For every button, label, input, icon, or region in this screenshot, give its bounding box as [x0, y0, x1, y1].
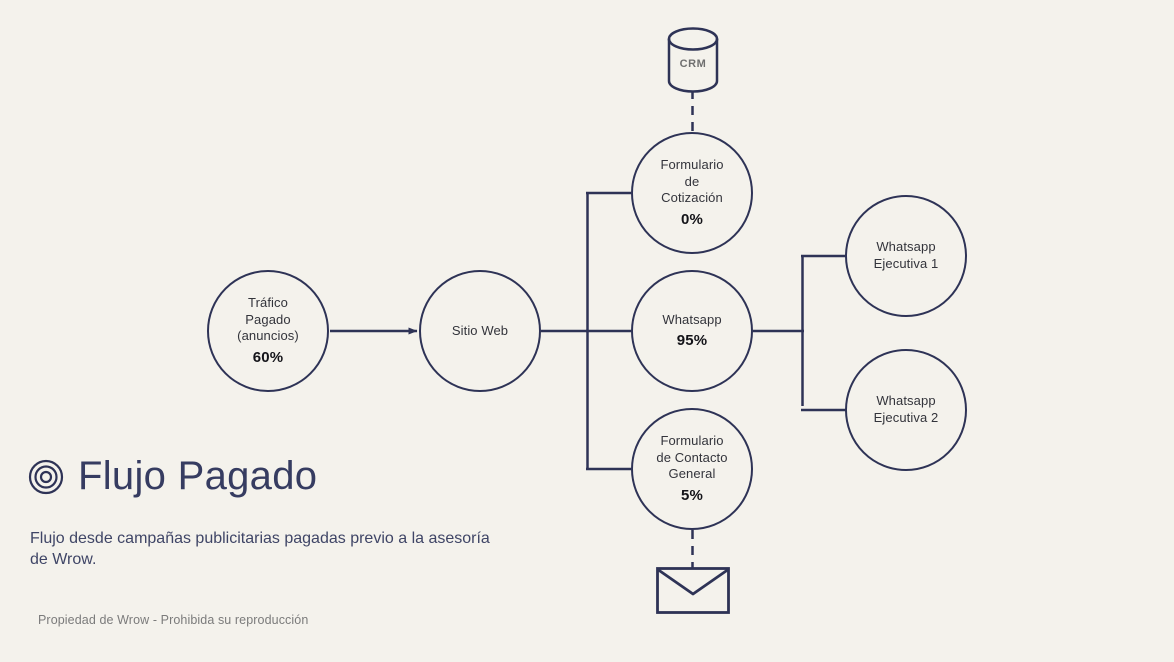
crm-label: CRM	[666, 25, 720, 95]
node-formulario-cotizacion-label: Formulario de Cotización	[654, 157, 729, 207]
node-sitio-web-label: Sitio Web	[446, 323, 514, 340]
envelope-icon	[656, 567, 730, 614]
node-formulario-cotizacion-percent: 0%	[681, 210, 703, 229]
diagram-canvas: CRM Formulario de Cotización 0% Tráfico …	[0, 0, 1174, 662]
node-formulario-contacto-label: Formulario de Contacto General	[650, 433, 733, 483]
node-formulario-contacto[interactable]: Formulario de Contacto General 5%	[631, 408, 753, 530]
node-crm[interactable]: CRM	[666, 25, 720, 95]
page-title: Flujo Pagado	[78, 454, 317, 499]
node-formulario-cotizacion[interactable]: Formulario de Cotización 0%	[631, 132, 753, 254]
node-whatsapp-ejecutiva-2[interactable]: Whatsapp Ejecutiva 2	[845, 349, 967, 471]
node-trafico-pagado-label: Tráfico Pagado (anuncios)	[231, 295, 305, 345]
footer-copyright-note: Propiedad de Wrow - Prohibida su reprodu…	[38, 613, 308, 627]
node-trafico-pagado-percent: 60%	[253, 348, 284, 367]
page-subtitle: Flujo desde campañas publicitarias pagad…	[30, 528, 500, 570]
target-bullseye-icon	[28, 459, 64, 495]
node-email[interactable]	[656, 567, 730, 614]
node-sitio-web[interactable]: Sitio Web	[419, 270, 541, 392]
node-whatsapp-ejecutiva-2-label: Whatsapp Ejecutiva 2	[868, 393, 945, 426]
page-heading: Flujo Pagado	[28, 454, 317, 499]
node-formulario-contacto-percent: 5%	[681, 486, 703, 505]
node-whatsapp-ejecutiva-1-label: Whatsapp Ejecutiva 1	[868, 239, 945, 272]
node-whatsapp-label: Whatsapp	[656, 312, 727, 329]
node-whatsapp-percent: 95%	[677, 331, 708, 350]
node-whatsapp-ejecutiva-1[interactable]: Whatsapp Ejecutiva 1	[845, 195, 967, 317]
node-whatsapp[interactable]: Whatsapp 95%	[631, 270, 753, 392]
node-trafico-pagado[interactable]: Tráfico Pagado (anuncios) 60%	[207, 270, 329, 392]
